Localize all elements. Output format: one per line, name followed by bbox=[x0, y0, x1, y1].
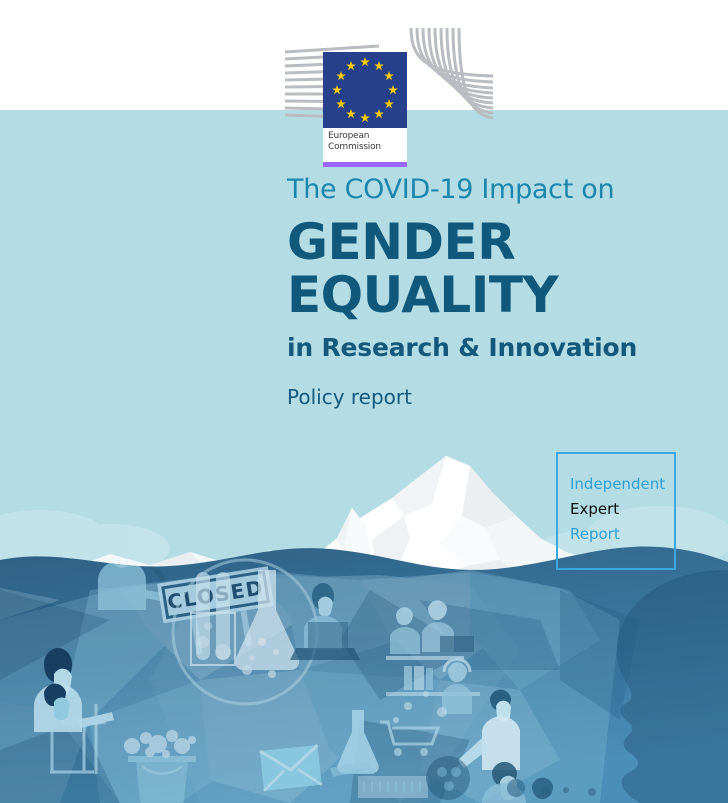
cover-title-line-1: GENDER bbox=[287, 213, 515, 271]
publisher-accent-bar bbox=[323, 162, 407, 167]
publisher-name-line-2: Commission bbox=[328, 142, 407, 153]
badge-line-independent: Independent bbox=[570, 472, 674, 497]
publisher-name: European Commission bbox=[323, 128, 407, 162]
eu-stars-icon bbox=[323, 52, 407, 128]
european-commission-logo: European Commission bbox=[283, 24, 495, 146]
cover-title-block: The COVID-19 Impact on GENDER EQUALITY i… bbox=[287, 172, 707, 410]
eu-flag-icon bbox=[323, 52, 407, 128]
badge-line-report: Report bbox=[570, 522, 674, 547]
badge-line-expert: Expert bbox=[570, 497, 674, 522]
report-cover: European Commission The COVID-19 Impact … bbox=[0, 0, 728, 803]
publisher-name-line-1: European bbox=[328, 131, 407, 142]
cover-title: GENDER EQUALITY bbox=[287, 216, 707, 322]
cover-title-line-2: EQUALITY bbox=[287, 269, 707, 322]
cover-subtitle: in Research & Innovation bbox=[287, 332, 707, 364]
cover-kicker: The COVID-19 Impact on bbox=[287, 172, 707, 208]
independent-expert-report-badge: Independent Expert Report bbox=[556, 452, 676, 570]
cover-document-type: Policy report bbox=[287, 384, 707, 410]
